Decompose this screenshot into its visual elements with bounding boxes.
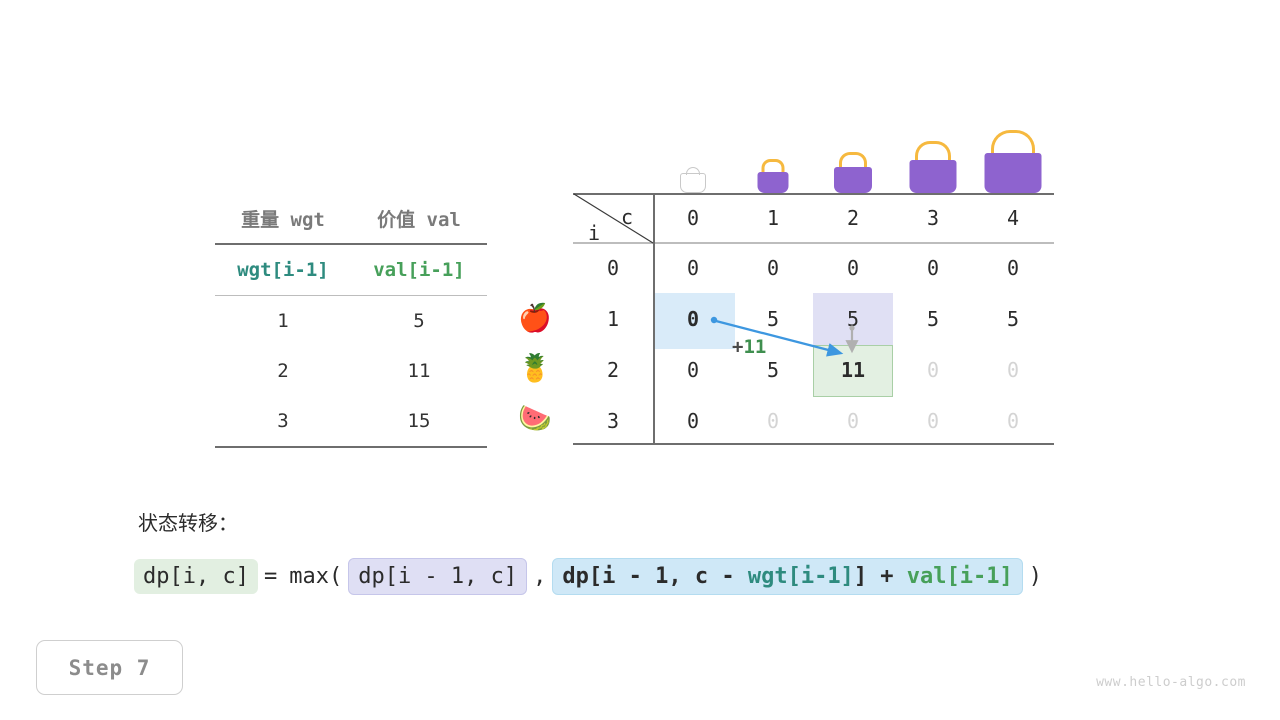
item-table-grid: 重量 wgt 价值 val wgt[i-1] val[i-1] 1 5 2 11 — [215, 193, 487, 448]
item-3-value: 15 — [351, 396, 487, 447]
item-properties-table: 重量 wgt 价值 val wgt[i-1] val[i-1] 1 5 2 11 — [215, 193, 487, 448]
dp-row-header-1: 1 — [573, 294, 653, 344]
pineapple-emoji-icon: 🍍 — [505, 343, 565, 393]
item-3-weight: 3 — [215, 396, 351, 447]
dp-cell-0-0: 0 — [653, 243, 733, 293]
table-row: 1 5 — [215, 296, 487, 347]
dp-cell-2-3: 0 — [893, 345, 973, 395]
item-table-header-row: 重量 wgt 价值 val — [215, 193, 487, 244]
dp-cell-0-1: 0 — [733, 243, 813, 293]
formula-take-prefix: dp[i - 1, c - — [562, 564, 747, 589]
dp-axis-label-i: i — [588, 221, 600, 245]
formula-take-val: val[i-1] — [907, 564, 1013, 589]
formula-option-skip: dp[i - 1, c] — [348, 558, 527, 595]
item-table-subheader-row: wgt[i-1] val[i-1] — [215, 244, 487, 296]
formula-target: dp[i, c] — [134, 559, 258, 594]
knapsack-capacity-icons — [653, 125, 1053, 193]
bag-slot-0 — [653, 125, 733, 193]
transition-label: 状态转移： — [138, 507, 238, 536]
formula-close-paren: ) — [1023, 564, 1048, 589]
dp-cell-3-0: 0 — [653, 396, 733, 446]
dp-cell-0-3: 0 — [893, 243, 973, 293]
watermark: www.hello-algo.com — [1096, 675, 1246, 690]
bag-capacity-1-icon — [756, 167, 790, 193]
dp-cell-1-4: 5 — [973, 294, 1053, 344]
dp-row-header-0: 0 — [573, 243, 653, 293]
watermelon-emoji-icon: 🍉 — [505, 393, 565, 443]
gain-sign: + — [732, 336, 743, 358]
item-subheader-wgt: wgt[i-1] — [215, 244, 351, 296]
bag-capacity-2-icon — [832, 161, 874, 193]
bag-slot-2 — [813, 125, 893, 193]
table-row: 2 11 — [215, 346, 487, 396]
formula-take-wgt: wgt[i-1] — [748, 564, 854, 589]
item-subheader-val: val[i-1] — [351, 244, 487, 296]
dp-col-header-4: 4 — [973, 193, 1053, 243]
dp-col-header-2: 2 — [813, 193, 893, 243]
apple-emoji-icon: 🍎 — [505, 293, 565, 343]
item-1-weight: 1 — [215, 296, 351, 347]
dp-cell-0-4: 0 — [973, 243, 1053, 293]
formula-take-mid: ] + — [854, 564, 907, 589]
state-transition-formula: dp[i, c] = max( dp[i - 1, c] , dp[i - 1,… — [134, 558, 1048, 595]
formula-option-take: dp[i - 1, c - wgt[i-1]] + val[i-1] — [552, 558, 1022, 595]
corner-diagonal-icon — [573, 193, 655, 244]
dp-col-header-1: 1 — [733, 193, 813, 243]
gain-annotation: +11 — [732, 336, 766, 358]
item-icon-column: 🍎 🍍 🍉 — [505, 293, 565, 443]
dp-cell-2-4: 0 — [973, 345, 1053, 395]
formula-comma: , — [527, 564, 552, 589]
formula-max-open: max( — [283, 564, 348, 589]
dp-col-header-3: 3 — [893, 193, 973, 243]
dp-cell-3-1: 0 — [733, 396, 813, 446]
dp-axis-label-c: c — [621, 205, 633, 229]
gain-value: 11 — [743, 336, 766, 358]
bag-capacity-3-icon — [907, 151, 959, 193]
bag-slot-1 — [733, 125, 813, 193]
dp-cell-1-0: 0 — [653, 294, 733, 344]
dp-cell-3-4: 0 — [973, 396, 1053, 446]
dp-cell-2-0: 0 — [653, 345, 733, 395]
status-badge: Step 7 — [36, 640, 183, 695]
item-2-value: 11 — [351, 346, 487, 396]
dp-cell-3-3: 0 — [893, 396, 973, 446]
dp-cell-2-2: 11 — [813, 345, 893, 395]
item-2-weight: 2 — [215, 346, 351, 396]
bag-capacity-4-icon — [982, 141, 1044, 193]
dp-row-header-2: 2 — [573, 345, 653, 395]
dp-row-header-3: 3 — [573, 396, 653, 446]
dp-col-header-0: 0 — [653, 193, 733, 243]
dp-cell-1-3: 5 — [893, 294, 973, 344]
item-header-weight: 重量 wgt — [215, 193, 351, 244]
item-1-value: 5 — [351, 296, 487, 347]
dp-cell-0-2: 0 — [813, 243, 893, 293]
slide-canvas: 重量 wgt 价值 val wgt[i-1] val[i-1] 1 5 2 11 — [0, 0, 1280, 720]
item-header-value: 价值 val — [351, 193, 487, 244]
bag-capacity-0-icon — [680, 173, 706, 193]
dp-cell-1-2: 5 — [813, 294, 893, 344]
dp-table: c i 0 1 2 3 4 0 1 2 3 0 0 0 0 0 0 5 5 5 … — [573, 193, 1054, 445]
bag-slot-3 — [893, 125, 973, 193]
formula-equals: = — [258, 564, 283, 589]
dp-cell-3-2: 0 — [813, 396, 893, 446]
table-row: 3 15 — [215, 396, 487, 447]
bag-slot-4 — [973, 125, 1053, 193]
